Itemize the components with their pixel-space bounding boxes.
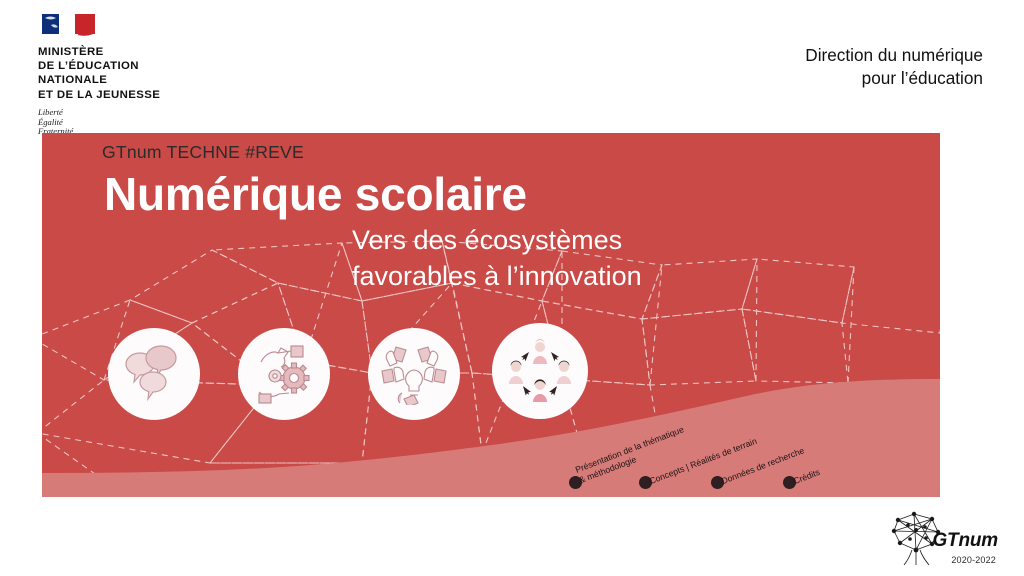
ministry-logo-block: MINISTÈRE DE L’ÉDUCATION NATIONALE ET DE… (38, 12, 238, 137)
ministry-name-line-2: DE L’ÉDUCATION (38, 59, 238, 73)
header: MINISTÈRE DE L’ÉDUCATION NATIONALE ET DE… (0, 0, 1024, 133)
section-nav: Présentation de la thématique & méthodol… (42, 133, 940, 497)
ministry-name-line-4: ET DE LA JEUNESSE (38, 88, 238, 102)
marianne-french-flag-icon (42, 12, 98, 38)
motto-liberte: Liberté (38, 108, 238, 118)
ministry-name-line-3: NATIONALE (38, 73, 238, 87)
gtnum-wordmark: GTnum (932, 530, 998, 552)
gtnum-logo: GTnum 2020-2022 (888, 504, 1008, 570)
direction-title-line-1: Direction du numérique (805, 44, 983, 67)
nav-label-credits-line-1: Crédits (792, 467, 822, 488)
direction-title-line-2: pour l’éducation (805, 67, 983, 90)
ministry-name: MINISTÈRE DE L’ÉDUCATION NATIONALE ET DE… (38, 45, 238, 102)
direction-title: Direction du numérique pour l’éducation (805, 44, 983, 90)
hero-panel: GTnum TECHNE #REVE Numérique scolaire Ve… (42, 133, 940, 497)
gtnum-years: 2020-2022 (951, 555, 996, 565)
ministry-name-line-1: MINISTÈRE (38, 45, 238, 59)
nav-label-credits[interactable]: Crédits (792, 467, 822, 488)
slide: MINISTÈRE DE L’ÉDUCATION NATIONALE ET DE… (0, 0, 1024, 576)
